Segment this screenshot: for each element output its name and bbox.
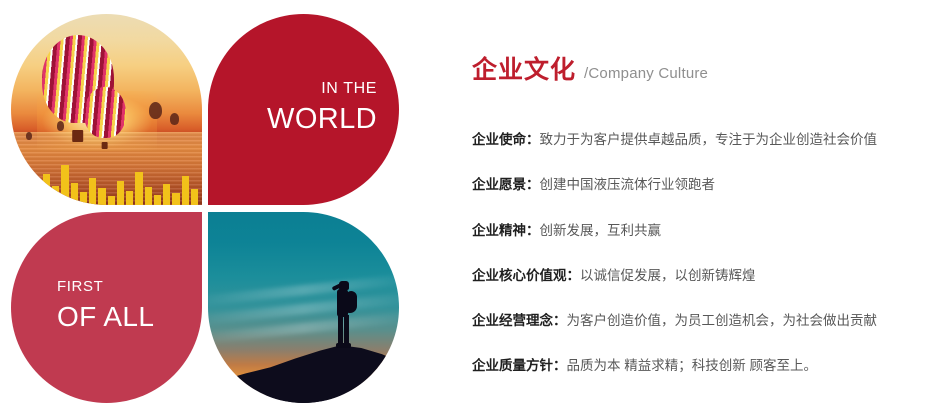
- distant-balloon-icon: [149, 102, 162, 119]
- collage-petal-in-the-world-tag: IN THE WORLD: [208, 14, 399, 205]
- company-culture-section: 企业文化 /Company Culture 企业使命：致力于为客户提供卓越品质，…: [472, 50, 942, 377]
- culture-row: 企业使命：致力于为客户提供卓越品质，专注于为企业创造社会价值: [472, 130, 942, 150]
- page-title-en: /Company Culture: [584, 65, 708, 82]
- culture-desc: 创新发展，互利共赢: [540, 223, 662, 238]
- culture-row: 企业精神：创新发展，互利共赢: [472, 221, 942, 241]
- culture-row: 企业愿景：创建中国液压流体行业领跑者: [472, 175, 942, 195]
- culture-label: 企业质量方针：: [472, 358, 567, 373]
- culture-label: 企业愿景：: [472, 177, 540, 192]
- culture-desc: 以诚信促发展，以创新铸辉煌: [580, 268, 756, 283]
- first-of-all-text-block: FIRST OF ALL: [11, 212, 202, 403]
- culture-row: 企业质量方针：品质为本 精益求精；科技创新 顾客至上。: [472, 356, 942, 376]
- collage-petal-hiker-twilight-photo: [208, 212, 399, 403]
- hiker-silhouette-icon: [326, 281, 360, 353]
- tagline-small-in-the: IN THE: [321, 79, 377, 99]
- city-skyline-silhouette: [11, 155, 202, 205]
- culture-desc: 品质为本 精益求精；科技创新 顾客至上。: [567, 358, 818, 373]
- culture-label: 企业使命：: [472, 132, 540, 147]
- hot-air-balloon-small-icon: [84, 87, 126, 139]
- culture-label: 企业核心价值观：: [472, 268, 580, 283]
- culture-row: 企业核心价值观：以诚信促发展，以创新铸辉煌: [472, 266, 942, 286]
- culture-desc: 致力于为客户提供卓越品质，专注于为企业创造社会价值: [540, 132, 878, 147]
- distant-balloon-icon: [170, 113, 180, 124]
- page-title-cn: 企业文化: [472, 50, 576, 86]
- tagline-small-first: FIRST: [57, 278, 103, 297]
- culture-desc: 创建中国液压流体行业领跑者: [540, 177, 716, 192]
- collage-petal-balloons-sunset-photo: [11, 14, 202, 205]
- culture-label: 企业精神：: [472, 223, 540, 238]
- tagline-big-of-all: OF ALL: [57, 300, 154, 334]
- section-heading: 企业文化 /Company Culture: [472, 50, 942, 86]
- distant-balloon-icon: [57, 121, 65, 131]
- culture-row: 企业经营理念：为客户创造价值，为员工创造机会，为社会做出贡献: [472, 311, 942, 331]
- in-the-world-text-block: IN THE WORLD: [208, 14, 399, 205]
- distant-balloon-icon: [26, 132, 32, 140]
- collage-petal-first-of-all-tag: FIRST OF ALL: [11, 212, 202, 403]
- tagline-big-world: WORLD: [267, 102, 377, 137]
- petal-collage: IN THE WORLD FIRST OF ALL: [11, 14, 399, 403]
- culture-label: 企业经营理念：: [472, 313, 567, 328]
- culture-desc: 为客户创造价值，为员工创造机会，为社会做出贡献: [567, 313, 878, 328]
